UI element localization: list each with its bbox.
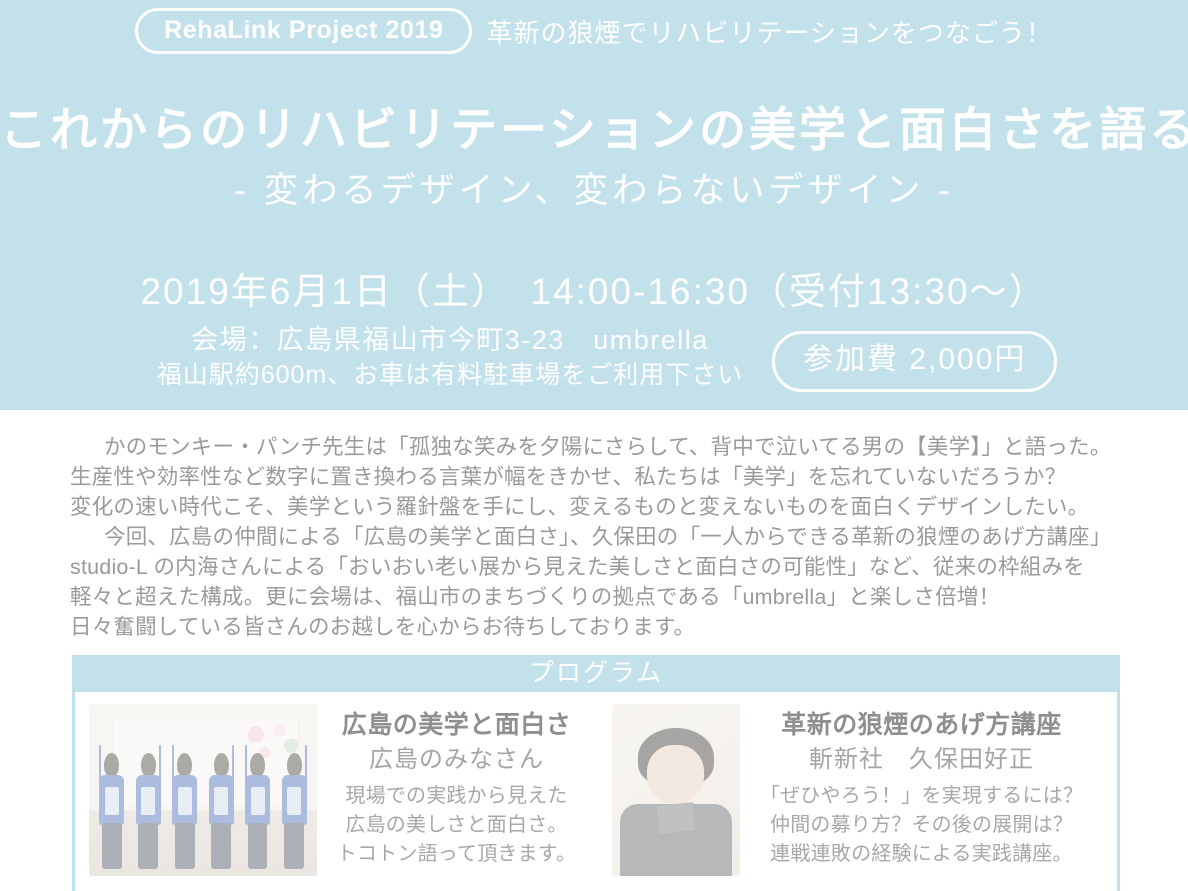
paragraph-1-line-2: 生産性や効率性など数字に置き換わる言葉が幅をきかせ、私たちは「美学」を忘れていな… [70,462,1130,492]
header-band: RehaLink Project 2019 革新の狼煙でリハビリテーションをつな… [0,0,1188,410]
program-card-text: 革新の狼煙のあげ方講座 斬新社 久保田好正 「ぜひやろう！」を実現するには？ 仲… [740,704,1103,869]
paragraph-2-line-2: studio-L の内海さんによる「おいおい老い展から見えた美しさと面白さの可能… [70,552,1130,582]
participation-fee-badge: 参加費 2,000円 [772,331,1057,392]
program-card: 革新の狼煙のあげ方講座 斬新社 久保田好正 「ぜひやろう！」を実現するには？ 仲… [596,704,1103,876]
program-header: プログラム [72,655,1120,692]
program-card-description: 現場での実践から見えた 広島の美しさと面白さ。 トコトン語って頂きます。 [317,778,596,869]
group-photo-blue-shirts [89,704,317,876]
description-line: 「ぜひやろう！」を実現するには？ [740,782,1103,811]
program-card-speaker: 斬新社 久保田好正 [740,742,1103,778]
venue-access-note: 福山駅約600m、お車は有料駐車場をご利用下さい [140,358,760,392]
program-card-speaker: 広島のみなさん [317,742,596,778]
description-line: 広島の美しさと面白さ。 [317,811,596,840]
portrait-photo-kubota [612,704,740,876]
event-datetime: 2019年6月1日（土） 14:00-16:30（受付13:30〜） [0,268,1188,316]
program-card-title: 広島の美学と面白さ [317,708,596,742]
paragraph-2-line-1: 今回、広島の仲間による「広島の美学と面白さ」、久保田の「一人からできる革新の狼煙… [70,522,1130,552]
program-card-title: 革新の狼煙のあげ方講座 [740,708,1103,742]
paragraph-2-line-4: 日々奮闘している皆さんのお越しを心からお待ちしております。 [70,612,1130,642]
project-name-pill: RehaLink Project 2019 [135,8,472,54]
program-card: 広島の美学と面白さ 広島のみなさん 現場での実践から見えた 広島の美しさと面白さ… [89,704,596,876]
description-line: 仲間の募り方？その後の展開は？ [740,811,1103,840]
venue-address: 会場：広島県福山市今町3-23 umbrella [140,322,760,358]
paragraph-1-line-1: かのモンキー・パンチ先生は「孤独な笑みを夕陽にさらして、背中で泣いてる男の【美学… [70,432,1130,462]
program-card-list: 広島の美学と面白さ 広島のみなさん 現場での実践から見えた 広島の美しさと面白さ… [75,692,1117,876]
body-copy: かのモンキー・パンチ先生は「孤独な笑みを夕陽にさらして、背中で泣いてる男の【美学… [70,432,1130,642]
venue-block: 会場：広島県福山市今町3-23 umbrella 福山駅約600m、お車は有料駐… [140,322,760,392]
page-title: これからのリハビリテーションの美学と面白さを語る [0,100,1188,160]
kicker-row: RehaLink Project 2019 革新の狼煙でリハビリテーションをつな… [0,8,1188,54]
paragraph-2-line-3: 軽々と超えた構成。更に会場は、福山市のまちづくりの拠点である「umbrella」… [70,582,1130,612]
description-line: 連戦連敗の経験による実践講座。 [740,840,1103,869]
description-line: トコトン語って頂きます。 [317,840,596,869]
program-card-text: 広島の美学と面白さ 広島のみなさん 現場での実践から見えた 広島の美しさと面白さ… [317,704,596,869]
description-line: 現場での実践から見えた [317,782,596,811]
page-subtitle: - 変わるデザイン、変わらないデザイン - [0,168,1188,214]
paragraph-1-line-3: 変化の速い時代こそ、美学という羅針盤を手にし、変えるものと変えないものを面白くデ… [70,492,1130,522]
program-panel: プログラム 広島の [72,655,1120,891]
event-flyer: RehaLink Project 2019 革新の狼煙でリハビリテーションをつな… [0,0,1188,891]
kicker-tagline: 革新の狼煙でリハビリテーションをつなごう！ [486,13,1052,50]
program-card-description: 「ぜひやろう！」を実現するには？ 仲間の募り方？その後の展開は？ 連戦連敗の経験… [740,778,1103,869]
